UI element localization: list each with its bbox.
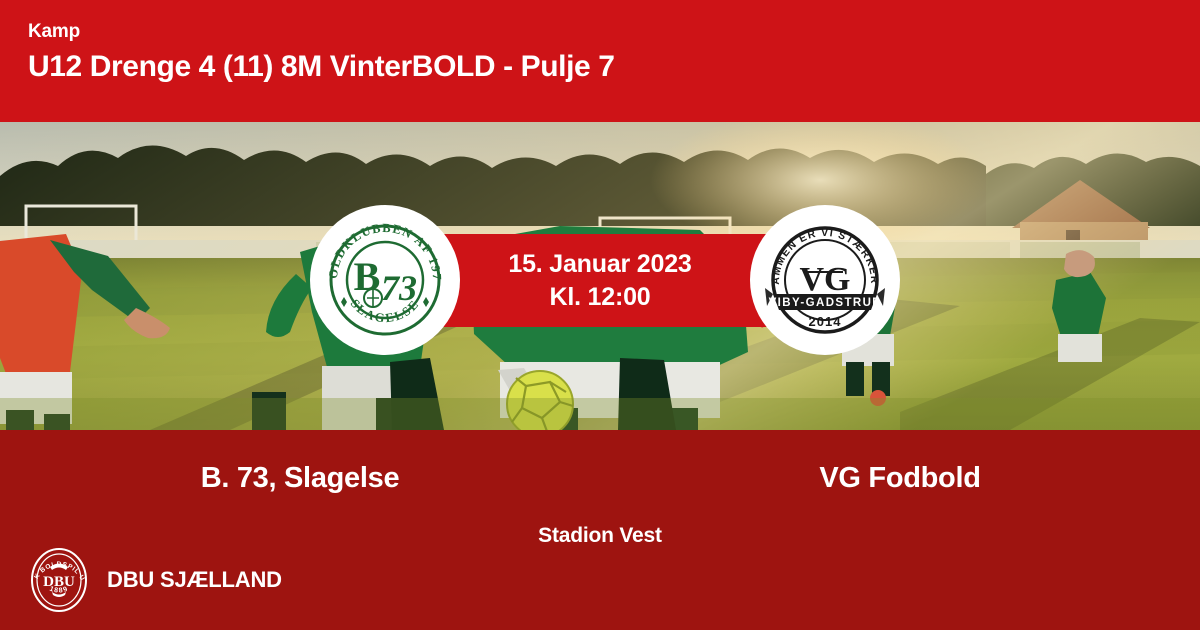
svg-text:VIBY-GADSTRUP: VIBY-GADSTRUP: [769, 297, 882, 309]
club-crest-b73-icon: BOLDKLUBBEN AF 1973 SLAGELSE B 73: [319, 214, 451, 346]
match-date: 15. Januar 2023: [508, 248, 691, 281]
svg-text:73: 73: [381, 268, 417, 308]
dbu-brand: DANSK BOLDSPIL UNION 1889 DBU DBU SJÆLLA…: [28, 545, 282, 615]
svg-text:2014: 2014: [809, 314, 842, 329]
svg-text:DBU: DBU: [43, 574, 75, 590]
club-crest-vg-icon: SAMMEN ER VI STÆRKERE VG VIBY-GADSTRUP 2…: [759, 214, 891, 346]
match-poster: Kamp U12 Drenge 4 (11) 8M VinterBOLD - P…: [0, 0, 1200, 630]
dbu-brand-label: DBU SJÆLLAND: [107, 567, 282, 593]
poster-header: Kamp U12 Drenge 4 (11) 8M VinterBOLD - P…: [0, 0, 1200, 122]
away-team-crest: SAMMEN ER VI STÆRKERE VG VIBY-GADSTRUP 2…: [750, 205, 900, 355]
svg-text:VG: VG: [800, 261, 851, 298]
page-title: U12 Drenge 4 (11) 8M VinterBOLD - Pulje …: [28, 49, 1200, 84]
home-team-name: B. 73, Slagelse: [0, 462, 600, 495]
teams-row: B. 73, Slagelse VG Fodbold: [0, 462, 1200, 495]
away-team-name: VG Fodbold: [600, 462, 1200, 495]
dbu-logo-icon: DANSK BOLDSPIL UNION 1889 DBU: [28, 545, 90, 615]
home-team-crest: BOLDKLUBBEN AF 1973 SLAGELSE B 73: [310, 205, 460, 355]
match-time: Kl. 12:00: [549, 281, 650, 314]
header-kicker: Kamp: [28, 22, 1200, 42]
